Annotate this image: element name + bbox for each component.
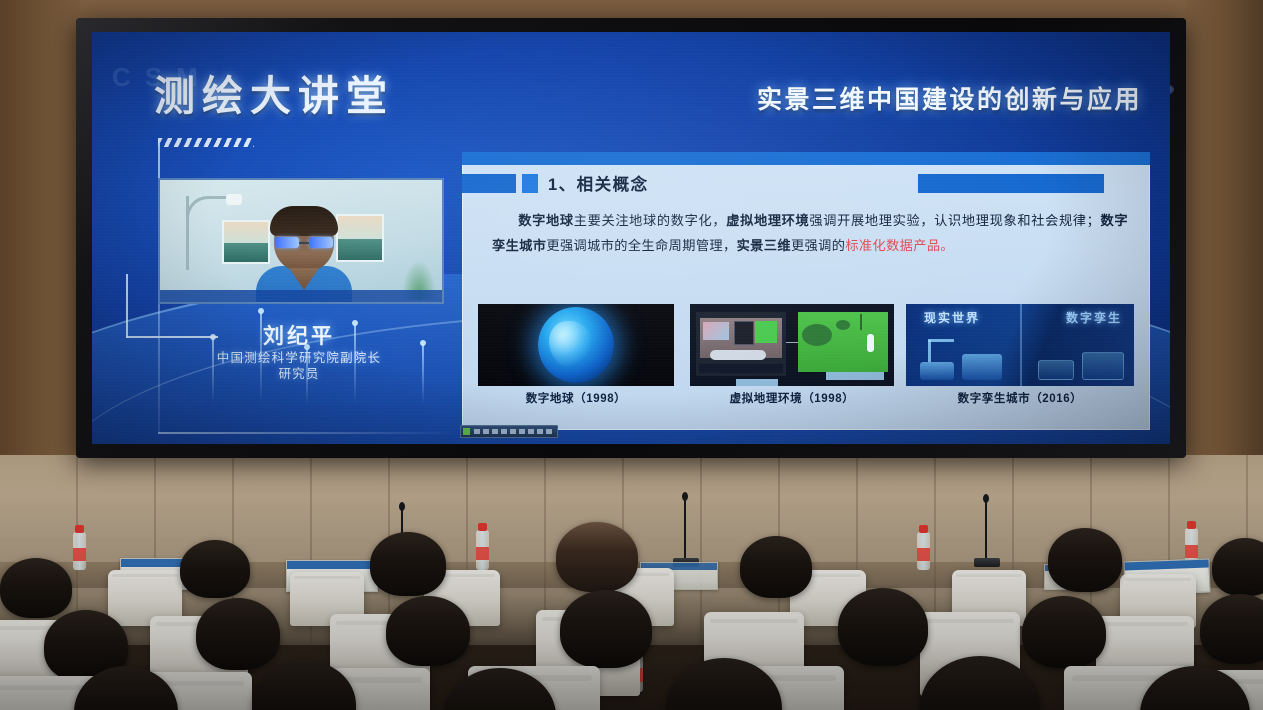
- figure-row: 现实世界 数字孪生 数字地球（1998） 虚拟地理环境（1998） 数字孪生城市…: [478, 304, 1134, 414]
- speaker-video-feed: [158, 178, 444, 304]
- machine-real: [920, 362, 954, 380]
- audience-head: [0, 558, 72, 618]
- para-seg-8: 更强调的: [791, 238, 845, 253]
- audience-head: [838, 588, 928, 666]
- speaker-name: 刘纪平: [158, 320, 440, 350]
- conference-hall-scene: CSM: [0, 0, 1263, 710]
- para-seg-6: 更强调城市的全生命周期管理，: [546, 238, 736, 253]
- machine-real: [962, 354, 1002, 380]
- vge-label-bottom: [736, 379, 778, 386]
- audience-area: 张雪萍 黄先锋 杜: [0, 470, 1263, 710]
- term-3d-realscene: 实景三维: [737, 238, 791, 253]
- highlight-standard-data-product: 标准化数据产品。: [845, 238, 954, 253]
- lecture-title: 实景三维中国建设的创新与应用: [757, 80, 1142, 116]
- water-bottle: [73, 532, 86, 570]
- figure-caption-3: 数字孪生城市（2016）: [906, 390, 1134, 406]
- speaker-hair: [270, 206, 338, 236]
- toolbar-status-icon: [463, 428, 470, 435]
- panel-top-bar: [462, 152, 1150, 165]
- figure-virtual-geographic-environment: [690, 304, 894, 386]
- heading-accent-bar-left: [462, 174, 516, 193]
- figure-caption-1: 数字地球（1998）: [478, 390, 674, 406]
- audience-head: [1048, 528, 1122, 592]
- robot-arm: [928, 340, 931, 362]
- heading-accent-bar-small: [522, 174, 538, 193]
- audience-head: [180, 540, 250, 598]
- video-bottom-bar: [160, 290, 442, 302]
- audience-head: [1022, 596, 1106, 668]
- water-bottle: [476, 530, 489, 570]
- audience-head: [1200, 594, 1263, 664]
- figure-caption-2: 虚拟地理环境（1998）: [690, 390, 894, 406]
- figure-digital-earth: [478, 304, 674, 386]
- figure-digital-twin-city: 现实世界 数字孪生: [906, 304, 1134, 386]
- speaker-affiliation-line1: 中国测绘科学研究院副院长: [217, 351, 381, 365]
- heading-accent-bar-right: [918, 174, 1104, 193]
- slide-content-panel: 1、相关概念 数字地球主要关注地球的数字化，虚拟地理环境强调开展地理实验，认识地…: [462, 152, 1150, 430]
- label-real-world: 现实世界: [924, 309, 980, 326]
- speaker-glasses: [275, 237, 333, 248]
- term-digital-earth: 数字地球: [518, 213, 574, 228]
- audience-head: [1212, 538, 1263, 596]
- program-brand-title: 测绘大讲堂: [154, 62, 394, 122]
- brand-horizontal-line: [158, 432, 458, 434]
- audience-head: [196, 598, 280, 670]
- presentation-screen: CSM: [92, 32, 1170, 444]
- para-seg-2: 主要关注地球的数字化，: [574, 213, 727, 228]
- microphone: [684, 498, 686, 560]
- vge-label-right: [826, 372, 884, 380]
- vge-terrain-pane: [798, 312, 888, 372]
- speaker-affiliation: 中国测绘科学研究院副院长 研究员: [142, 350, 456, 382]
- audience-head: [556, 522, 638, 592]
- machine-twin: [1082, 352, 1124, 380]
- brand-hatch-rule: [158, 138, 254, 147]
- wall-right-column: [1185, 0, 1263, 470]
- video-frame: [160, 180, 442, 302]
- microphone: [985, 500, 987, 560]
- toolbar-buttons[interactable]: [474, 429, 554, 434]
- robot-arm: [928, 339, 954, 342]
- wall-left-column: [0, 0, 80, 470]
- presentation-toolbar[interactable]: [460, 425, 558, 438]
- water-bottle: [917, 532, 930, 570]
- term-vge: 虚拟地理环境: [726, 213, 809, 228]
- section-heading-row: 1、相关概念: [462, 170, 1150, 196]
- speaker-title-line2: 研究员: [278, 367, 319, 381]
- audience-head: [740, 536, 812, 598]
- corner-bracket-vertical: [126, 274, 128, 338]
- speaker-figure: [256, 210, 352, 302]
- machine-twin: [1038, 360, 1074, 380]
- slide-paragraph: 数字地球主要关注地球的数字化，虚拟地理环境强调开展地理实验，认识地理现象和社会规…: [492, 208, 1128, 258]
- globe-graphic: [538, 307, 614, 383]
- led-screen-bezel: CSM: [76, 18, 1186, 458]
- twin-divider: [1020, 304, 1022, 386]
- audience-head: [560, 590, 652, 668]
- vge-lab-pane: [696, 312, 786, 376]
- floor-lamp: [186, 196, 189, 270]
- label-digital-twin: 数字孪生: [1066, 309, 1122, 326]
- audience-head: [386, 596, 470, 666]
- para-seg-4: 强调开展地理实验，认识地理现象和社会规律；: [809, 213, 1100, 228]
- section-title: 1、相关概念: [548, 171, 649, 195]
- audience-head: [370, 532, 446, 596]
